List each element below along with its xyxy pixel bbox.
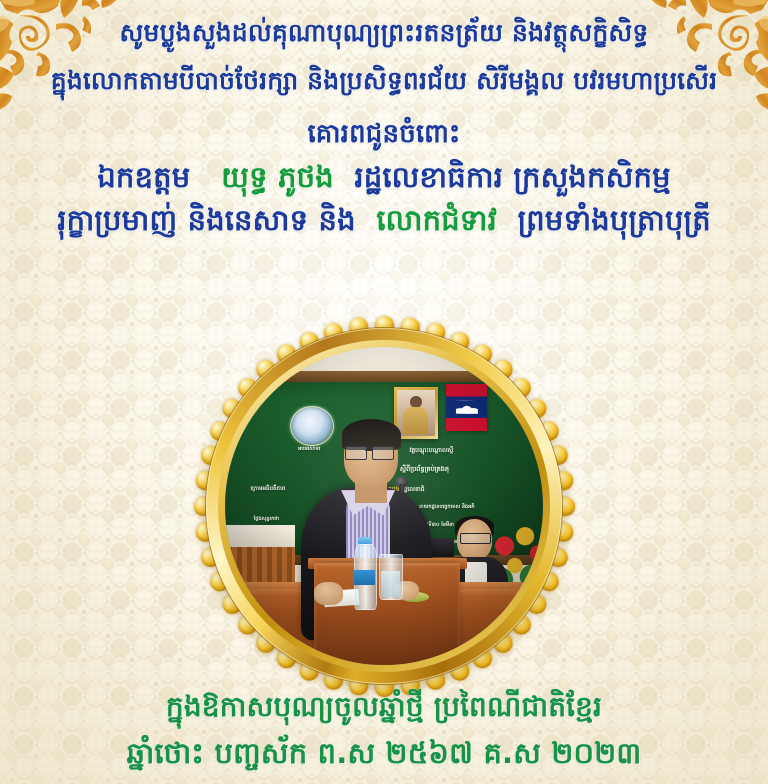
- circular-photo-frame: អបអរសាទរ ក្រោមអធិបតីភាព ថ្លែងសុន្ទរកថា វ…: [184, 306, 584, 706]
- greeting-line-1: សូមប្លូងសួងដល់គុណាបុណ្យព្រះរតនត្រ័យ និងវ…: [0, 20, 768, 46]
- greeting-line-2: គ្នុងលោកតាមបីបាច់ថែរក្សា និងប្រសិទ្ធពរជ័…: [0, 68, 768, 94]
- honoree-title: ឯកឧត្តម: [97, 160, 190, 194]
- poster-canvas: សូមប្លូងសួងដល់គុណាបុណ្យព្រះរតនត្រ័យ និងវ…: [0, 0, 768, 784]
- footer-line-1: ក្នុងឱកាសបុណ្យចូលឆ្នាំថ្មី ប្រពៃណីជាតិខ្…: [0, 692, 768, 721]
- honoree-name: យុទ្ធ ភូថង: [221, 160, 334, 194]
- footer-line-2: ឆ្នាំថោះ បញ្ចស័ក ព.ស ២៥៦៧ គ.ស ២០២៣: [0, 738, 768, 768]
- honoree-spouse: លោកជំទាវ: [376, 203, 497, 237]
- honoree-line-2: រុក្ខាប្រមាញ់ និងនេសាទ និង លោកជំទាវ ព្រម…: [0, 205, 768, 235]
- footer-text-block: ក្នុងឱកាសបុណ្យចូលឆ្នាំថ្មី ប្រពៃណីជាតិខ្…: [0, 692, 768, 768]
- honoree-family: ព្រមទាំងបុត្រាបុត្រី: [518, 203, 711, 237]
- photo-vignette: [225, 347, 543, 665]
- honoree-position: រដ្ឋលេខាធិការ ក្រសួងកសិកម្ម: [354, 160, 670, 194]
- honoree-department: រុក្ខាប្រមាញ់ និងនេសាទ និង: [57, 203, 356, 237]
- event-photograph: អបអរសាទរ ក្រោមអធិបតីភាព ថ្លែងសុន្ទរកថា វ…: [225, 347, 543, 665]
- honoree-line-1: ឯកឧត្តម យុទ្ធ ភូថង រដ្ឋលេខាធិការ ក្រសួងក…: [0, 162, 768, 192]
- greeting-line-3-dedication: គោរពជូនចំពោះ: [0, 121, 768, 148]
- greeting-text-block: សូមប្លូងសួងដល់គុណាបុណ្យព្រះរតនត្រ័យ និងវ…: [0, 8, 768, 236]
